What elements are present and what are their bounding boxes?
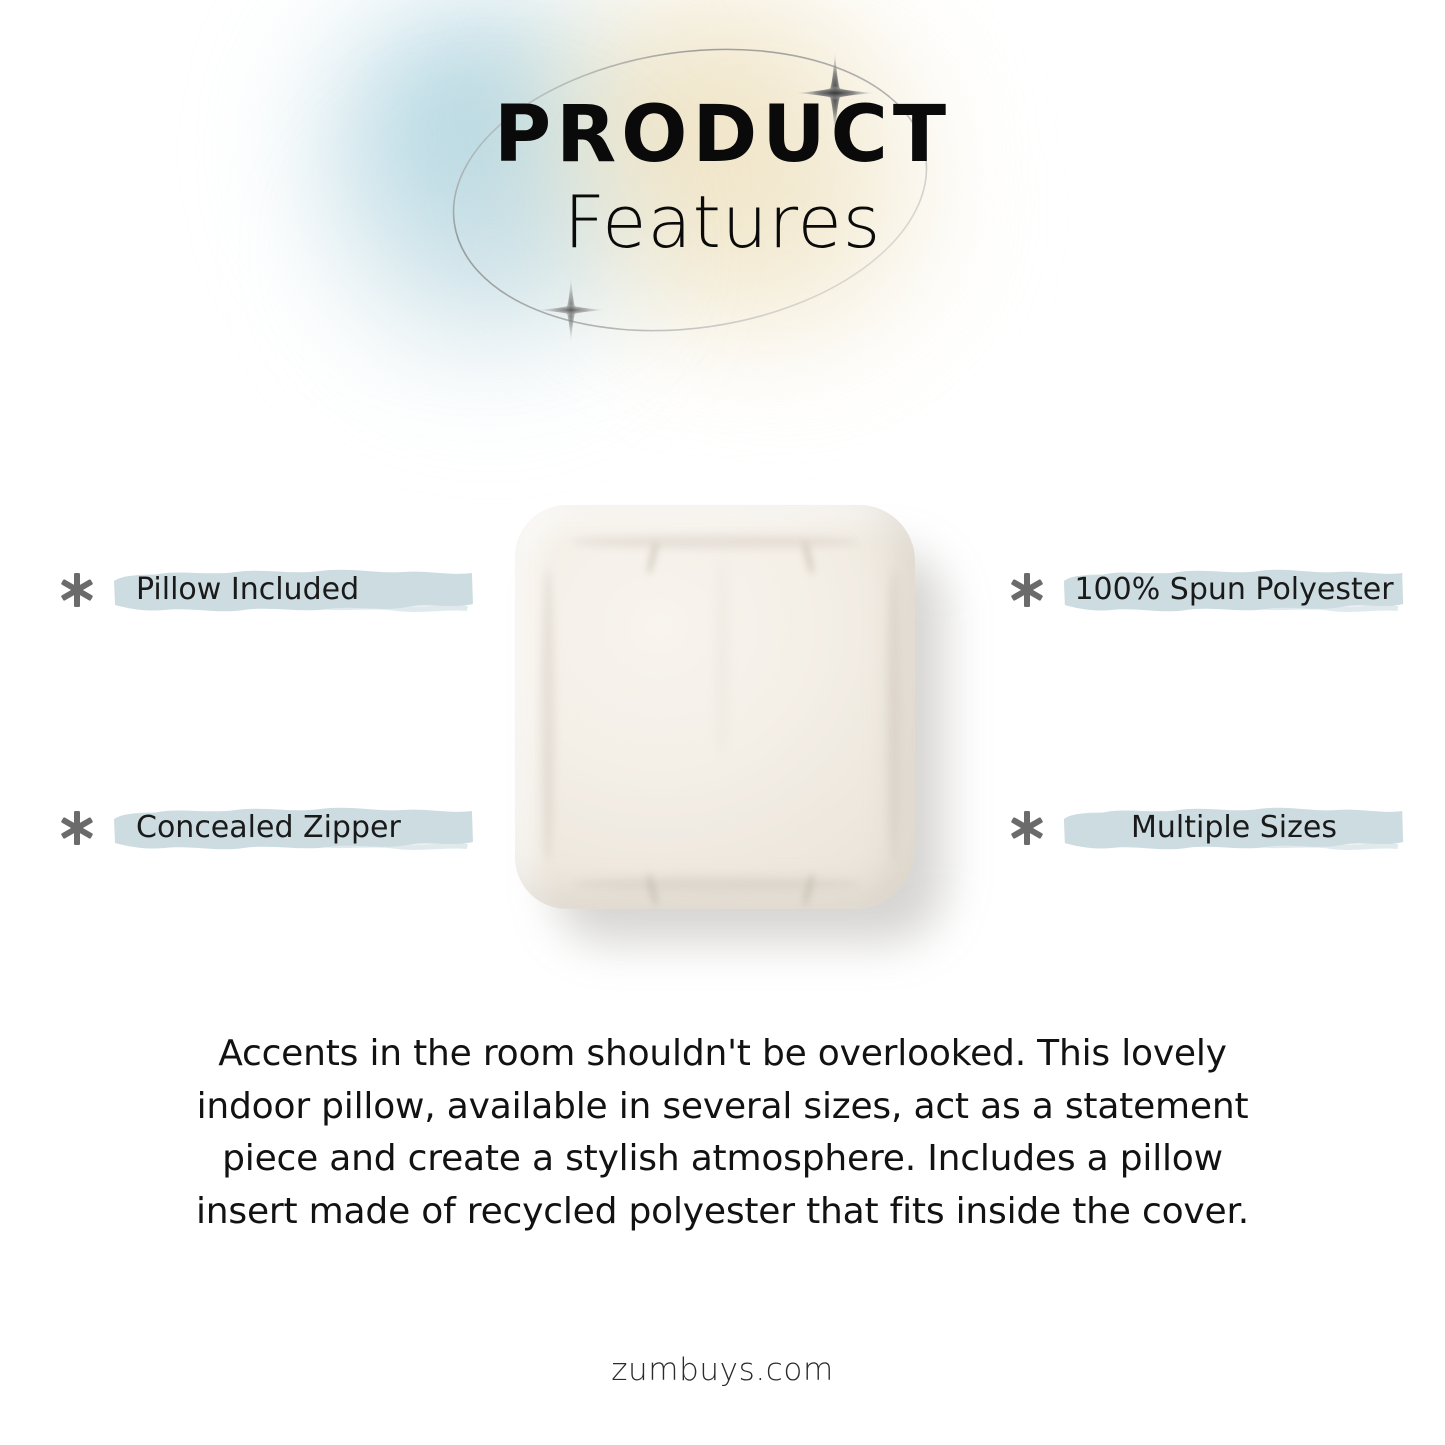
- page-title: PRODUCT: [0, 96, 1445, 174]
- page-title-block: PRODUCT Features: [0, 96, 1445, 263]
- feature-label: Pillow Included: [112, 570, 476, 610]
- pillow-center-fold: [719, 557, 725, 757]
- product-image-pillow: [505, 495, 945, 945]
- feature-item-multiple-sizes: Multiple Sizes: [1006, 790, 1406, 866]
- footer-website: zumbuys.com: [0, 1352, 1445, 1388]
- feature-item-spun-polyester: 100% Spun Polyester: [1006, 552, 1406, 628]
- page-subtitle: Features: [0, 182, 1445, 263]
- asterisk-star-icon: [56, 569, 98, 611]
- feature-label: Concealed Zipper: [112, 808, 476, 848]
- feature-item-concealed-zipper: Concealed Zipper: [56, 790, 476, 866]
- feature-text-wrap: Concealed Zipper: [112, 790, 476, 866]
- product-features-infographic: PRODUCT Features: [0, 0, 1445, 1445]
- asterisk-star-icon: [1006, 807, 1048, 849]
- feature-label: Multiple Sizes: [1062, 808, 1406, 848]
- asterisk-star-icon: [1006, 569, 1048, 611]
- feature-label: 100% Spun Polyester: [1062, 570, 1406, 610]
- feature-item-pillow-included: Pillow Included: [56, 552, 476, 628]
- pillow-seam-bottom: [573, 877, 859, 891]
- pillow-body: [515, 505, 915, 909]
- pillow-seam-left: [541, 569, 555, 861]
- product-description: Accents in the room shouldn't be overloo…: [180, 1028, 1265, 1238]
- pillow-seam-right: [887, 569, 901, 861]
- pillow-seam-top: [573, 535, 859, 549]
- feature-text-wrap: Pillow Included: [112, 552, 476, 628]
- feature-text-wrap: 100% Spun Polyester: [1062, 552, 1406, 628]
- feature-text-wrap: Multiple Sizes: [1062, 790, 1406, 866]
- header-area: PRODUCT Features: [0, 0, 1445, 400]
- asterisk-star-icon: [56, 807, 98, 849]
